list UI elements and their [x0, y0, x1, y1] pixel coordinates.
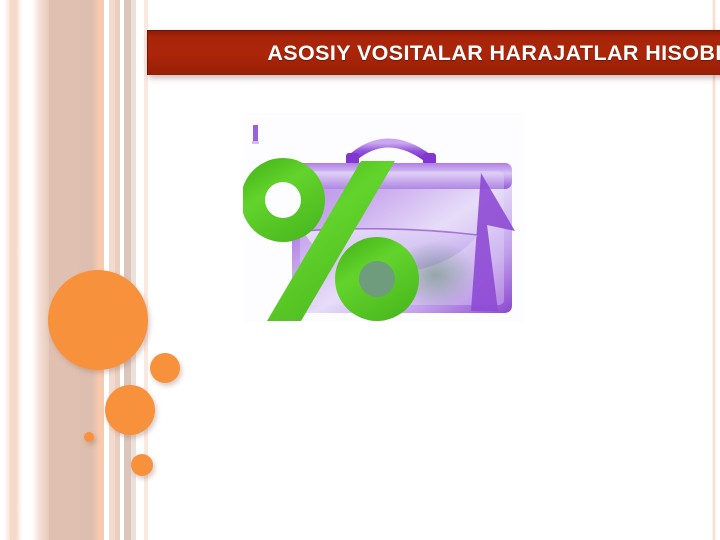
stripe-band [49, 0, 79, 540]
large-circle-decoration [48, 270, 148, 370]
tiny-circle-bottom-decoration [131, 454, 153, 476]
left-stripe-decoration [0, 0, 152, 540]
stripe-band [124, 0, 131, 540]
small-circle-upper-right-decoration [150, 353, 180, 383]
briefcase-percent-image [243, 113, 525, 322]
stripe-band [22, 0, 32, 540]
stripe-band [32, 0, 40, 540]
medium-circle-decoration [105, 385, 155, 435]
right-stripe-decoration [712, 0, 716, 540]
stripe-band [40, 0, 49, 540]
slide-title-bar: ASOSIY VOSITALAR HARAJATLAR HISOBI [147, 30, 720, 75]
tiny-circle-left-decoration [84, 432, 94, 442]
slide-canvas: ASOSIY VOSITALAR HARAJATLAR HISOBI [0, 0, 720, 540]
page-title: ASOSIY VOSITALAR HARAJATLAR HISOBI [147, 41, 720, 66]
